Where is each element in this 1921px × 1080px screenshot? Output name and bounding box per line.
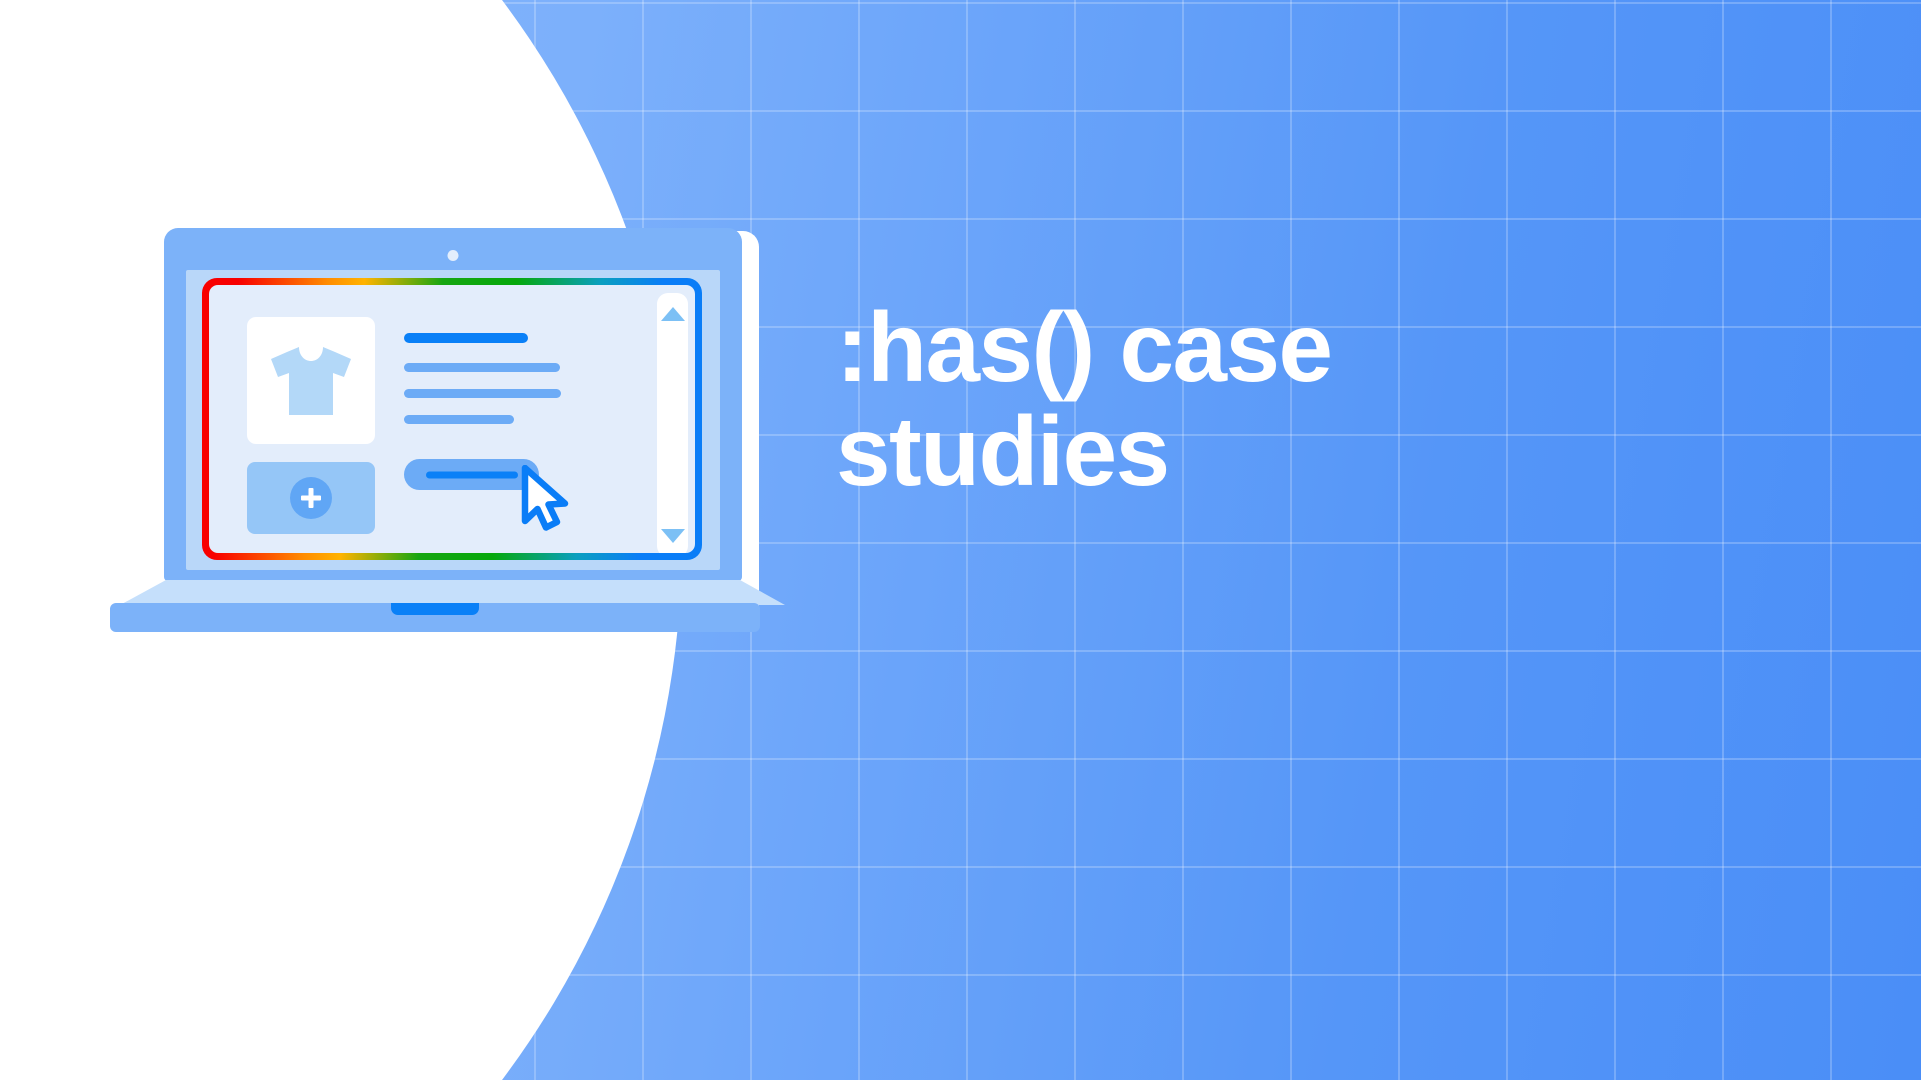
- vertical-scrollbar[interactable]: [657, 293, 688, 553]
- scroll-down-arrow-icon[interactable]: [661, 529, 685, 543]
- browser-page: [209, 285, 695, 553]
- rainbow-focus-ring: [202, 278, 702, 560]
- headline-line-1: :has() case: [836, 296, 1536, 400]
- webcam-dot: [448, 250, 459, 261]
- screen-bezel: [186, 270, 720, 570]
- headline-line-2: studies: [836, 400, 1536, 504]
- product-text-placeholder-2: [404, 389, 561, 398]
- laptop-lid: [164, 228, 742, 581]
- product-text-placeholder-1: [404, 363, 560, 372]
- tshirt-icon: [269, 345, 353, 417]
- laptop-illustration: [110, 228, 760, 633]
- laptop-hinge: [120, 580, 785, 605]
- banner-canvas: :has() case studies: [0, 0, 1921, 1080]
- product-text-placeholder-3: [404, 415, 514, 424]
- trackpad-notch: [391, 603, 479, 615]
- mouse-pointer-icon: [519, 465, 571, 531]
- product-detail-lines: [404, 333, 634, 424]
- headline: :has() case studies: [836, 296, 1536, 504]
- add-variant-button[interactable]: [247, 462, 375, 534]
- cta-label-placeholder: [426, 471, 518, 478]
- plus-icon: [290, 477, 332, 519]
- product-title-placeholder: [404, 333, 528, 343]
- scroll-up-arrow-icon[interactable]: [661, 307, 685, 321]
- product-thumbnail: [247, 317, 375, 444]
